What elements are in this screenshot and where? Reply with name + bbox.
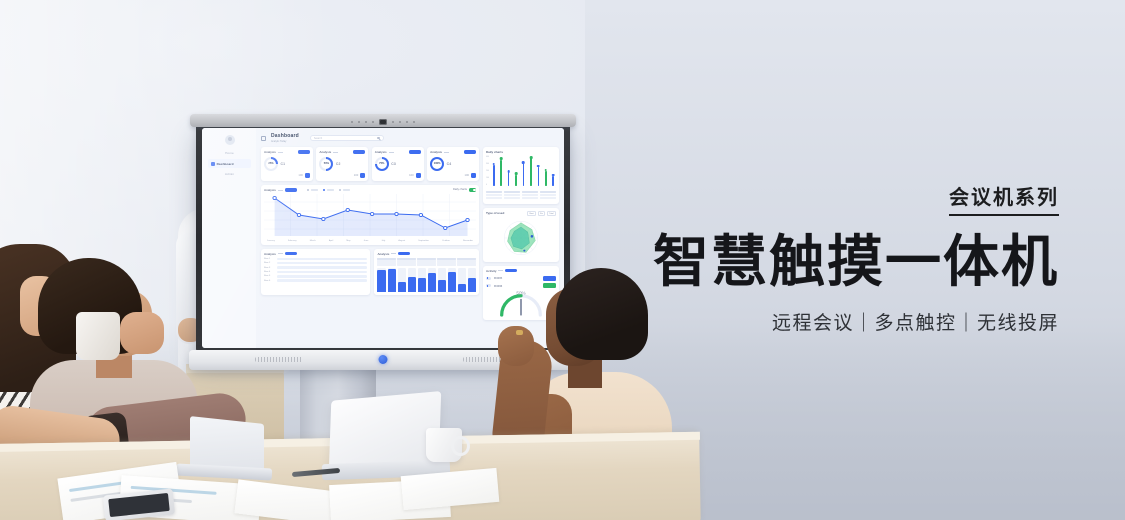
bar-track [458, 268, 466, 292]
promo-banner: Home Dashboard Admin Dashboa [0, 0, 1125, 520]
dashboard-app: Home Dashboard Admin Dashboa [202, 128, 564, 348]
kpi-label: Analysis [375, 150, 387, 154]
chart-label: Analysis [264, 188, 276, 192]
axis-tick: October [442, 240, 450, 242]
sidebar-item-label: Admin [225, 172, 234, 176]
dashboard-left-column: Analysis 25% [261, 147, 479, 320]
table-cell [417, 263, 436, 265]
toggle-label: Daily charts [453, 188, 467, 191]
progress-row: Row 3 [264, 266, 367, 269]
activity-row[interactable]: R4006 [486, 283, 556, 288]
table-cell [522, 194, 538, 196]
table-cell [540, 197, 556, 199]
donut-chart: 50% [319, 157, 333, 171]
daily-bar [536, 156, 541, 186]
progress-row-list: Row 1 Row 2 Row 3 [264, 258, 367, 283]
kpi-value: 25% [268, 162, 273, 165]
table-cell [437, 258, 456, 260]
kpi-footer-value: 100 [354, 174, 358, 177]
page-title: Dashboard [271, 133, 299, 139]
radio-icon [307, 189, 310, 192]
table-cell [540, 194, 556, 196]
bar-fill [448, 272, 456, 292]
mic-dot-icon [365, 121, 367, 123]
bar-track [418, 268, 426, 292]
search-input[interactable]: Search [310, 135, 384, 141]
progress-row: Row 6 [264, 279, 367, 282]
radio-icon [323, 189, 326, 192]
grid-icon [261, 136, 266, 141]
kpi-value: 100% [434, 162, 441, 165]
kpi-card[interactable]: Analysis 50% [316, 147, 368, 181]
panel-title: Activity [486, 269, 496, 273]
progress-row-label: Row 5 [264, 275, 275, 277]
table-cell [457, 260, 476, 262]
activity-name: R4005 [494, 276, 502, 280]
mic-dot-icon [413, 121, 415, 123]
bar-chart-plot [377, 268, 476, 292]
mic-dot-icon [392, 121, 394, 123]
kpi-detail-button[interactable] [360, 173, 365, 178]
bar-fill [388, 269, 396, 292]
kpi-detail-button[interactable] [416, 173, 421, 178]
toggle-icon [486, 284, 491, 287]
donut-chart: 75% [375, 157, 389, 171]
table-cell [397, 263, 416, 265]
line-chart-card[interactable]: Analysis Daily charts [261, 185, 479, 245]
table-cell [397, 260, 416, 262]
kpi-card[interactable]: Analysis 75% [372, 147, 424, 181]
daily-bar [543, 156, 548, 186]
kpi-label: Analysis [430, 150, 442, 154]
table-cell [457, 263, 476, 265]
headline-text: 智慧触摸一体机 [653, 232, 1059, 292]
daily-bar [551, 156, 556, 186]
divider [278, 253, 283, 254]
bar-track [448, 268, 456, 292]
kpi-card-row: Analysis 25% [261, 147, 479, 181]
legend-item[interactable] [323, 189, 334, 192]
bar-fill [418, 278, 426, 291]
bar-track [398, 268, 406, 292]
bar-fill [438, 280, 446, 292]
table-cell [417, 260, 436, 262]
table-cell [417, 258, 436, 260]
panel-action-button[interactable] [285, 252, 297, 255]
activity-name: R4006 [494, 284, 502, 288]
kpi-detail-button[interactable] [471, 173, 476, 178]
axis-tick: April [329, 240, 333, 242]
radio-icon [339, 189, 342, 192]
kpi-footer-value: 100 [465, 174, 469, 177]
donut-chart: 25% [264, 157, 278, 171]
bar-fill [458, 284, 466, 291]
table-cell [504, 194, 520, 196]
table-row [486, 194, 556, 196]
speaker-grille-left-icon [255, 357, 303, 362]
panel-label: Analysis [377, 252, 389, 256]
bar-fill [428, 273, 436, 292]
axis-tick: June [364, 240, 369, 242]
eyebrow-text: 会议机系列 [949, 186, 1059, 216]
line-chart-svg [264, 194, 476, 239]
axis-tick: 400 [486, 156, 489, 158]
sidebar-item-label: Dashboard [217, 162, 234, 166]
panel-action-button[interactable] [398, 252, 410, 255]
bar-track [438, 268, 446, 292]
progress-row-label: Row 2 [264, 262, 275, 264]
divider [444, 152, 449, 153]
dashboard-header: Dashboard Analytic Today Search [261, 133, 559, 143]
kpi-detail-button[interactable] [305, 173, 310, 178]
daily-bar [513, 156, 518, 186]
sidebar-item-home[interactable]: Home [208, 149, 251, 158]
kpi-label: Analysis [319, 150, 331, 154]
daily-bar [521, 156, 526, 186]
toggle-icon [486, 277, 491, 280]
gauge-svg: 50% [498, 291, 544, 317]
daily-bar [528, 156, 533, 186]
progress-row: Row 1 [264, 258, 367, 261]
chip-total[interactable]: Total [547, 211, 556, 216]
activity-row[interactable]: R4005 [486, 276, 556, 281]
chart-legend [307, 189, 350, 192]
radar-plot [486, 217, 556, 259]
axis-tick: May [346, 240, 350, 242]
subline-text: 远程会议｜多点触控｜无线投屏 [653, 308, 1059, 335]
table-cell [397, 258, 416, 260]
progress-panel[interactable]: Analysis Row 1 [261, 249, 370, 295]
kpi-card[interactable]: Analysis 100% [427, 147, 479, 181]
kpi-code: C2 [336, 162, 341, 166]
toggle-switch[interactable] [469, 188, 476, 191]
kpi-action-button[interactable] [409, 150, 421, 153]
progress-row-label: Row 4 [264, 271, 275, 273]
interactive-display[interactable]: Home Dashboard Admin Dashboa [196, 122, 570, 354]
bar-track [428, 268, 436, 292]
axis-tick: February [288, 240, 297, 242]
table-cell [437, 263, 456, 265]
kpi-code: C1 [281, 162, 286, 166]
kpi-action-button[interactable] [464, 150, 476, 153]
daily-bar-plot: 400 300 200 100 0 [486, 156, 556, 186]
activity-badge-green[interactable] [543, 283, 556, 288]
table-cell [437, 260, 456, 262]
bar-track [468, 268, 476, 292]
mini-table [486, 191, 556, 199]
chip-best[interactable]: Best [527, 211, 536, 216]
progress-row: Row 4 [264, 271, 367, 274]
kpi-footer-value: 100 [409, 174, 413, 177]
axis-tick: September [418, 240, 429, 242]
chip-fix[interactable]: Fix [538, 211, 546, 216]
table-cell [486, 197, 502, 199]
line-chart-plot [264, 194, 476, 239]
table-cell [377, 263, 396, 265]
daily-bar [498, 156, 503, 186]
camera-lens-icon [379, 119, 387, 125]
panel-title: Type of used [486, 211, 504, 215]
table-cell [486, 191, 502, 193]
axis-tick: July [381, 240, 385, 242]
chart-action-button[interactable] [285, 188, 297, 191]
kpi-value: 75% [379, 162, 384, 165]
radar-svg [486, 217, 556, 259]
bar-fill [468, 278, 476, 292]
axis-tick: 300 [486, 163, 489, 165]
kpi-card[interactable]: Analysis 25% [261, 147, 313, 181]
home-button[interactable] [379, 355, 388, 364]
progress-row: Row 2 [264, 262, 367, 265]
table-row [377, 260, 476, 262]
axis-tick: 200 [486, 170, 489, 172]
table-header-row [486, 191, 556, 193]
mic-dot-icon [406, 121, 408, 123]
mic-dot-icon [351, 121, 353, 123]
divider [333, 152, 338, 153]
sidebar-item-label: Home [225, 151, 234, 155]
donut-chart: 100% [430, 157, 444, 171]
ring-jewelry [516, 330, 523, 335]
progress-row-label: Row 1 [264, 258, 275, 260]
bar-track [408, 268, 416, 292]
daily-charts-card[interactable]: Daily charts 400 300 200 100 0 [483, 147, 559, 204]
mini-table [377, 258, 476, 266]
display-screen[interactable]: Home Dashboard Admin Dashboa [202, 128, 564, 348]
bar-track [388, 268, 396, 292]
panel-action-button[interactable] [505, 269, 517, 272]
bar-panel[interactable]: Analysis [374, 249, 479, 295]
divider [389, 152, 394, 153]
table-row [486, 197, 556, 199]
bar-fill [398, 282, 406, 292]
divider [498, 270, 503, 271]
kpi-action-button[interactable] [353, 150, 365, 153]
table-cell [486, 194, 502, 196]
table-cell [457, 258, 476, 260]
table-cell [377, 260, 396, 262]
divider [391, 253, 396, 254]
gauge-value: 50% [516, 291, 525, 295]
dashboard-main: Dashboard Analytic Today Search [256, 128, 564, 348]
dashboard-right-column: Daily charts 400 300 200 100 0 [483, 147, 559, 320]
bar-track [377, 268, 385, 292]
progress-row-label: Row 6 [264, 280, 275, 282]
panel-label: Analysis [264, 252, 276, 256]
kpi-code: C4 [447, 162, 452, 166]
attendee-right-hair [556, 268, 648, 360]
kpi-code: C3 [391, 162, 396, 166]
legend-item[interactable] [307, 189, 318, 192]
kpi-action-button[interactable] [298, 150, 310, 153]
attendee-center-hand [120, 312, 164, 354]
table-cell [377, 258, 396, 260]
axis-tick: January [267, 240, 275, 242]
progress-row-label: Row 3 [264, 267, 275, 269]
daily-bar [506, 156, 511, 186]
axis-tick: 0 [486, 184, 489, 186]
marketing-copy: 会议机系列 智慧触摸一体机 远程会议｜多点触控｜无线投屏 [653, 186, 1059, 335]
avatar [225, 135, 235, 145]
table-cell [522, 197, 538, 199]
bar-fill [377, 270, 385, 292]
table-row [377, 263, 476, 265]
kpi-footer-value: 100 [298, 174, 302, 177]
daily-charts-toggle[interactable]: Daily charts [453, 188, 476, 191]
legend-item[interactable] [339, 189, 350, 192]
panel-title: Daily charts [486, 150, 556, 154]
daily-bar-x-axis: ‧‧‧‧‧‧‧‧‧ [486, 187, 556, 189]
coffee-mug [426, 428, 462, 462]
axis-tick: March [310, 240, 316, 242]
axis-tick: August [398, 240, 405, 242]
page-subtitle: Analytic Today [271, 140, 286, 143]
axis-tick: 100 [486, 177, 489, 179]
grid-icon [211, 162, 215, 166]
kpi-label: Analysis [264, 150, 276, 154]
activity-badge-blue[interactable] [543, 276, 556, 281]
table-cell [540, 191, 556, 193]
radar-filter-chips: Best Fix Total [527, 211, 556, 216]
bar-fill [408, 277, 416, 292]
divider [278, 152, 283, 153]
table-header-row [377, 258, 476, 260]
sidebar-item-dashboard[interactable]: Dashboard [208, 159, 251, 168]
mic-dot-icon [372, 121, 374, 123]
coffee-cup [76, 312, 120, 360]
search-icon [377, 137, 380, 140]
mic-dot-icon [399, 121, 401, 123]
search-placeholder: Search [314, 137, 322, 140]
dashboard-body: Analysis 25% [261, 147, 559, 320]
radar-chart-card[interactable]: Type of used Best Fix Total [483, 208, 559, 262]
table-cell [522, 191, 538, 193]
sidebar-item-admin[interactable]: Admin [208, 170, 251, 179]
dashboard-sidebar: Home Dashboard Admin [202, 128, 256, 348]
table-cell [504, 191, 520, 193]
mic-dot-icon [358, 121, 360, 123]
axis-tick: November [463, 240, 473, 242]
dashboard-lower-row: Analysis Row 1 [261, 249, 479, 295]
line-chart-x-axis: January February March April May June Ju… [264, 240, 476, 242]
progress-row: Row 5 [264, 275, 367, 278]
divider [278, 190, 283, 191]
display-top-bar [190, 114, 576, 127]
kpi-value: 50% [324, 162, 329, 165]
table-cell [504, 197, 520, 199]
camera-microphone-array [351, 119, 415, 125]
y-axis: 400 300 200 100 0 [486, 156, 489, 186]
daily-bar [491, 156, 496, 186]
